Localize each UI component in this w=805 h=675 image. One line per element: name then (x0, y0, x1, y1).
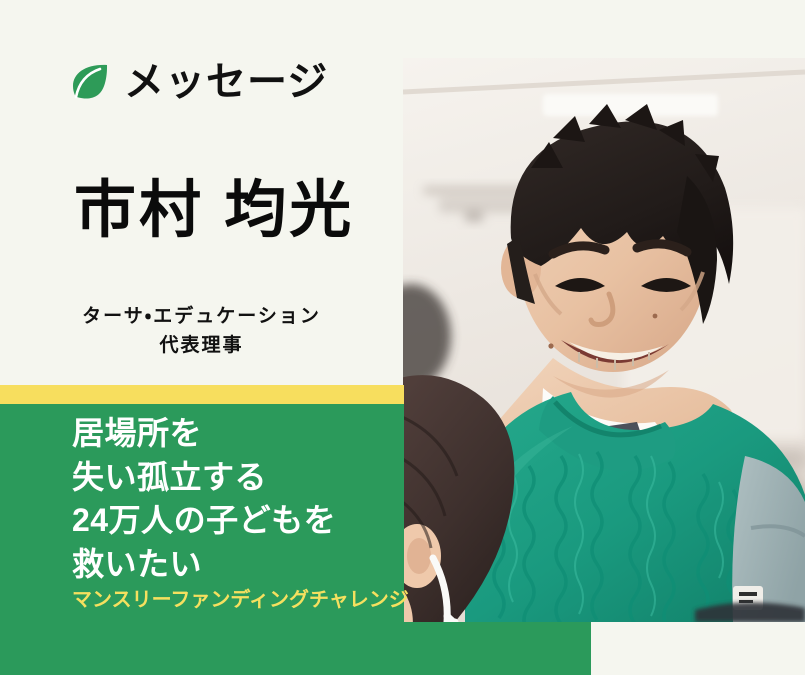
headline-line-3: 24万人の子どもを (72, 499, 402, 543)
headline-line-1: 居場所を (72, 412, 402, 456)
portrait-photo (403, 58, 805, 622)
person-role: 代表理事 (0, 331, 403, 360)
header: メッセージ (66, 58, 328, 106)
affiliation-block: ターサ・エデュケーション 代表理事 (0, 302, 403, 361)
message-slide: メッセージ 市村 均光 ターサ・エデュケーション 代表理事 居場所を 失い孤立す… (0, 0, 805, 675)
green-footer-block (0, 622, 591, 675)
headline-line-4: 救いたい (72, 543, 402, 587)
person-name: 市村 均光 (74, 176, 354, 245)
banner-copy: 居場所を 失い孤立する 24万人の子どもを 救いたい マンスリーファンディングチ… (72, 412, 402, 612)
banner-subtitle: マンスリーファンディングチャレンジ (72, 588, 402, 612)
header-title: メッセージ (124, 62, 328, 102)
yellow-accent-bar (0, 385, 404, 404)
headline-line-2: 失い孤立する (72, 456, 402, 500)
organization-name: ターサ・エデュケーション (0, 302, 403, 331)
leaf-icon (66, 58, 114, 106)
